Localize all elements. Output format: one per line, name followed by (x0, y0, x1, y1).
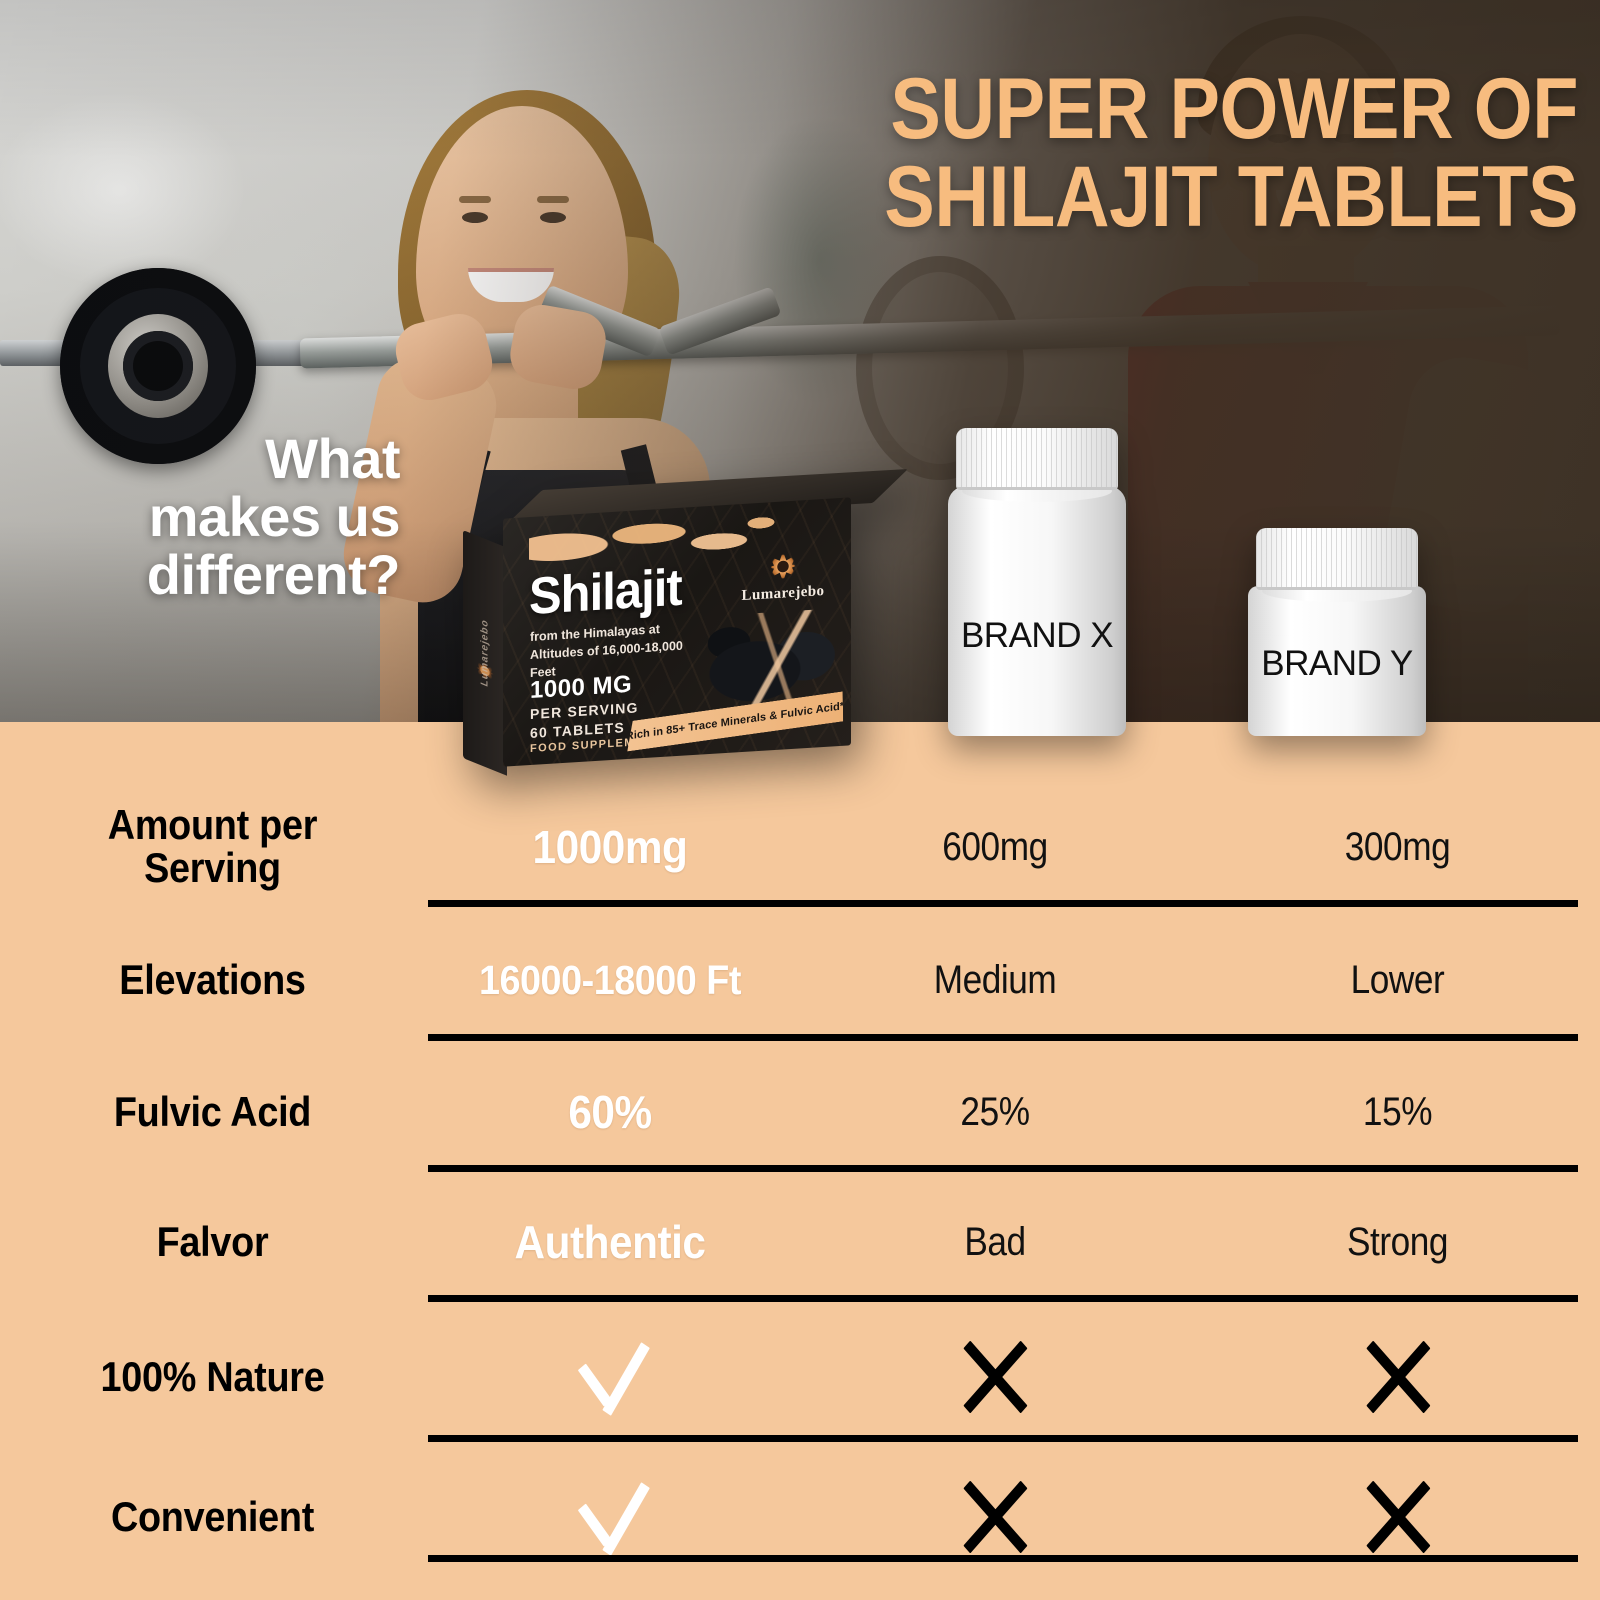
brand-x-value (819, 1480, 1171, 1554)
cross-icon (1365, 1480, 1430, 1554)
row-label: Fulvic Acid (21, 1091, 404, 1134)
bottle-body (948, 486, 1126, 736)
row-label: 100% Nature (21, 1356, 404, 1399)
table-row: Falvor Authentic Bad Strong (0, 1192, 1600, 1292)
brand-x-value: 600mg (819, 825, 1171, 870)
brand-x-value: Bad (819, 1220, 1171, 1265)
tagline-line-1: What (60, 430, 400, 488)
table-row: 100% Nature (0, 1322, 1600, 1432)
page-title: SUPER POWER OF SHILAJIT TABLETS (786, 66, 1578, 241)
brand-y-bottle: BRAND Y (1248, 528, 1426, 736)
tagline: What makes us different? (60, 430, 400, 605)
sun-burst-icon (768, 551, 798, 583)
brand-y-label: BRAND Y (1248, 644, 1426, 684)
product-dose: 1000 MG (530, 673, 632, 703)
table-row: Elevations 16000-18000 Ft Medium Lower (0, 930, 1600, 1030)
row-divider (428, 1555, 1578, 1562)
brand-y-value: Strong (1219, 1220, 1575, 1265)
our-brand-value: Authentic (440, 1215, 780, 1269)
product-name: Shilajit (529, 562, 682, 623)
row-label: Convenient (21, 1496, 404, 1539)
brand-y-value: 15% (1219, 1090, 1575, 1135)
bottle-cap (956, 428, 1118, 490)
cross-icon (962, 1340, 1027, 1414)
cross-icon (962, 1480, 1027, 1554)
row-divider (428, 900, 1578, 907)
brand-x-value: 25% (819, 1090, 1171, 1135)
brand-x-value: Medium (819, 958, 1171, 1003)
title-line-2: SHILAJIT TABLETS (786, 154, 1578, 242)
row-label-line-1: Amount per (21, 804, 404, 847)
row-label: Falvor (21, 1221, 404, 1264)
our-brand-value: 1000mg (440, 820, 780, 874)
our-brand-value: 60% (440, 1085, 780, 1139)
brand-y-value: Lower (1219, 958, 1575, 1003)
our-brand-value (440, 1344, 780, 1410)
table-row: Fulvic Acid 60% 25% 15% (0, 1062, 1600, 1162)
row-divider (428, 1034, 1578, 1041)
row-label: Amount per Serving (21, 804, 404, 890)
infographic-page: SUPER POWER OF SHILAJIT TABLETS What mak… (0, 0, 1600, 1600)
tagline-line-3: different? (60, 546, 400, 604)
row-divider (428, 1165, 1578, 1172)
title-line-1: SUPER POWER OF (890, 61, 1578, 157)
brand-y-value: 300mg (1219, 825, 1575, 870)
brand-name: Lumarejebo (735, 583, 831, 606)
row-label-line-2: Serving (21, 847, 404, 890)
brand-x-bottle: BRAND X (948, 428, 1126, 736)
check-icon (571, 1344, 648, 1410)
row-label: Elevations (21, 959, 404, 1002)
bottle-cap (1256, 528, 1418, 590)
table-row: Amount per Serving 1000mg 600mg 300mg (0, 782, 1600, 912)
brand-y-value (1219, 1480, 1575, 1554)
comparison-table: Amount per Serving 1000mg 600mg 300mg El… (0, 722, 1600, 1600)
our-brand-value (440, 1484, 780, 1550)
row-divider (428, 1295, 1578, 1302)
row-divider (428, 1435, 1578, 1442)
brand-y-value (1219, 1340, 1575, 1414)
our-brand-value: 16000-18000 Ft (440, 957, 780, 1004)
brand-x-label: BRAND X (948, 616, 1126, 656)
brand-x-value (819, 1340, 1171, 1414)
side-brand-name: Lumarejebo (480, 617, 491, 688)
tagline-line-2: makes us (60, 488, 400, 546)
cross-icon (1365, 1340, 1430, 1414)
check-icon (571, 1484, 648, 1550)
brand-lockup: Lumarejebo (735, 549, 831, 606)
